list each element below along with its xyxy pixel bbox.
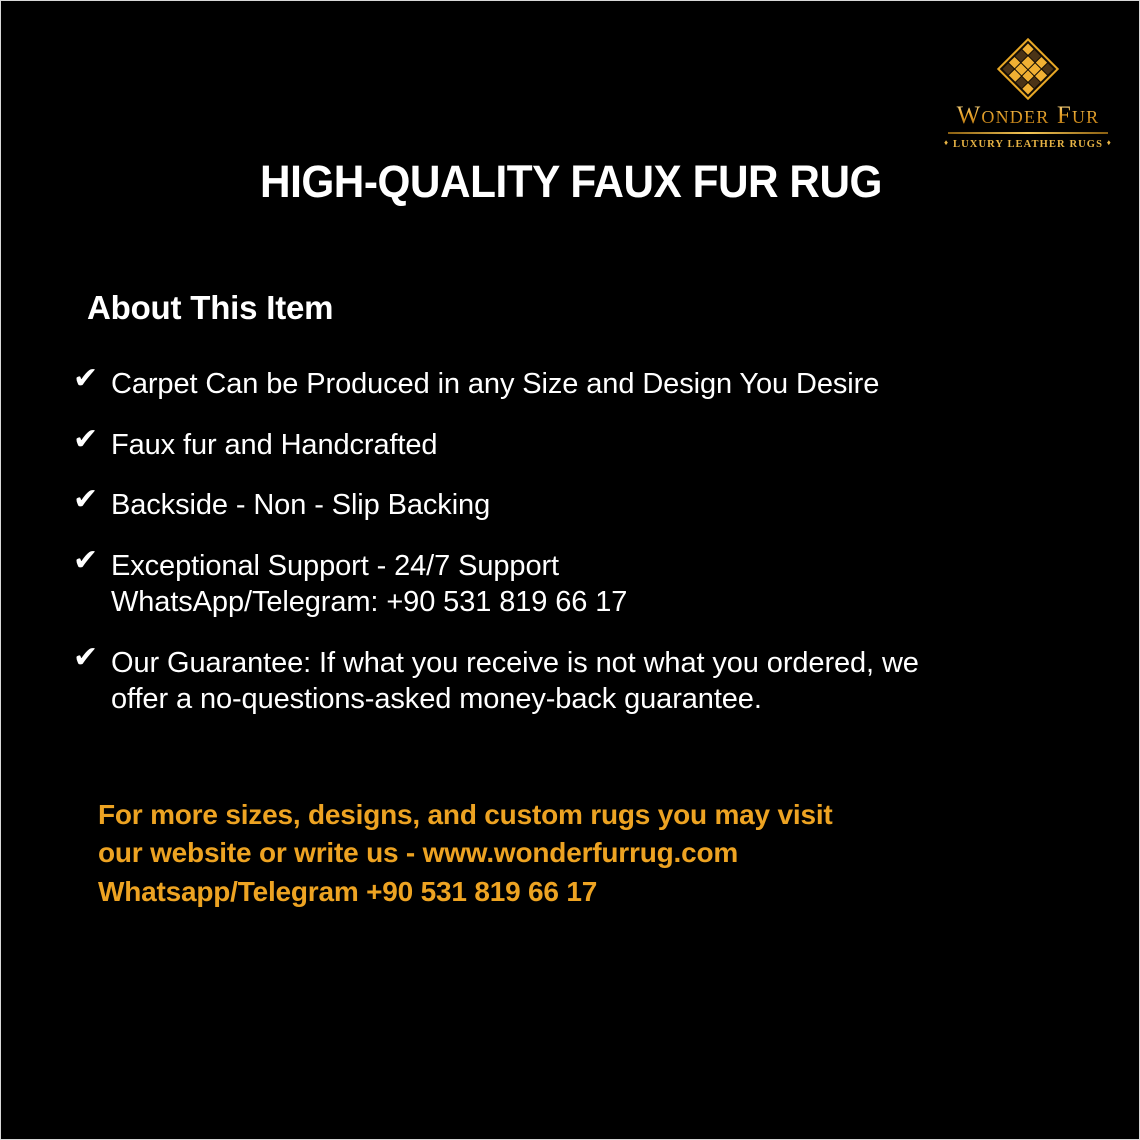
feature-list: ✔ Carpet Can be Produced in any Size and…	[73, 366, 1083, 742]
brand-tagline: ♦ LUXURY LEATHER RUGS ♦	[939, 139, 1117, 151]
list-item-label: Carpet Can be Produced in any Size and D…	[111, 366, 879, 403]
brand-tagline-text: LUXURY LEATHER RUGS	[953, 139, 1103, 150]
logo-diamond-wrap	[939, 37, 1117, 101]
diamond-checkerboard-icon	[997, 38, 1059, 100]
check-icon: ✔	[73, 643, 111, 673]
list-item: ✔ Backside - Non - Slip Backing	[73, 487, 1083, 524]
list-item: ✔ Faux fur and Handcrafted	[73, 427, 1083, 464]
check-icon: ✔	[73, 546, 111, 576]
brand-name: Wonder Fur	[939, 103, 1117, 128]
list-item-label: Exceptional Support - 24/7 Support Whats…	[111, 548, 627, 621]
list-item: ✔ Exceptional Support - 24/7 Support Wha…	[73, 548, 1083, 621]
page-title: HIGH-QUALITY FAUX FUR RUG	[35, 156, 1107, 208]
brand-logo: Wonder Fur ♦ LUXURY LEATHER RUGS ♦	[939, 37, 1117, 151]
list-item: ✔ Carpet Can be Produced in any Size and…	[73, 366, 1083, 403]
list-item: ✔ Our Guarantee: If what you receive is …	[73, 645, 1083, 718]
check-icon: ✔	[73, 364, 111, 394]
list-item-label: Faux fur and Handcrafted	[111, 427, 437, 464]
diamond-ornament-icon: ♦	[944, 138, 949, 147]
check-icon: ✔	[73, 425, 111, 455]
list-item-label: Our Guarantee: If what you receive is no…	[111, 645, 919, 718]
product-info-card: Wonder Fur ♦ LUXURY LEATHER RUGS ♦ HIGH-…	[0, 0, 1140, 1140]
list-item-label: Backside - Non - Slip Backing	[111, 487, 490, 524]
section-heading: About This Item	[87, 289, 333, 327]
brand-divider	[948, 132, 1108, 134]
check-icon: ✔	[73, 485, 111, 515]
contact-cta-text: For more sizes, designs, and custom rugs…	[98, 796, 833, 911]
diamond-ornament-icon: ♦	[1107, 138, 1112, 147]
